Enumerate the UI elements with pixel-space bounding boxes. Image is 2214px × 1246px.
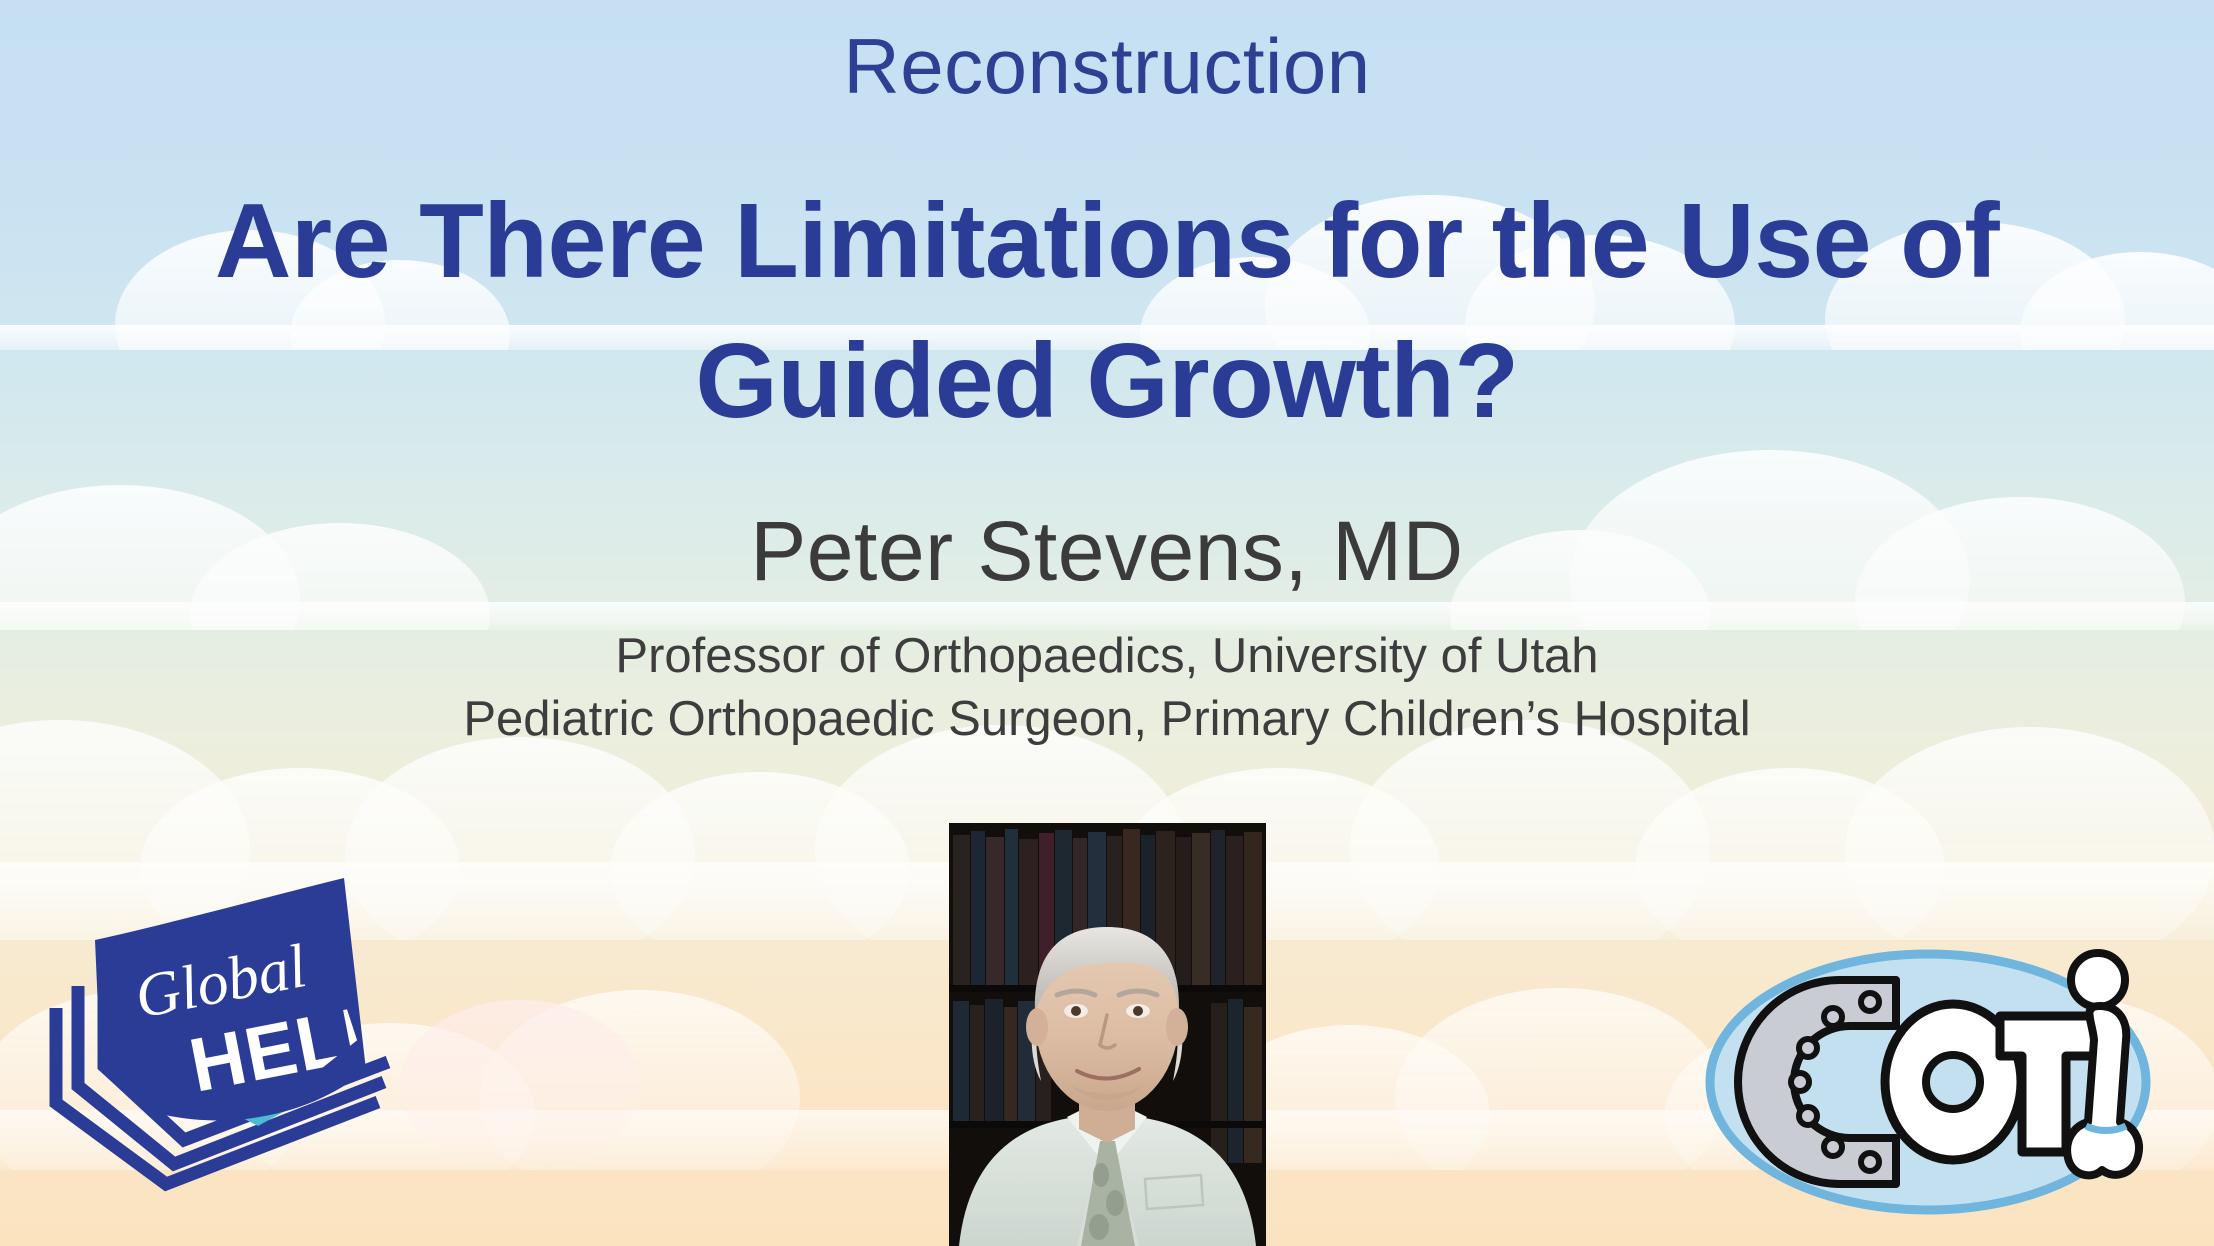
speaker-name: Peter Stevens, MD xyxy=(0,505,2214,597)
coti-logo xyxy=(1700,930,2170,1230)
slide-title-line-1: Are There Limitations for the Use of xyxy=(60,172,2154,312)
affiliation-line-2: Pediatric Orthopaedic Surgeon, Primary C… xyxy=(0,688,2214,751)
affiliation-line-1: Professor of Orthopaedics, University of… xyxy=(0,625,2214,688)
speaker-affiliation: Professor of Orthopaedics, University of… xyxy=(0,625,2214,750)
slide-title: Are There Limitations for the Use of Gui… xyxy=(60,172,2154,452)
presentation-slide: Reconstruction Are There Limitations for… xyxy=(0,0,2214,1246)
slide-title-line-2: Guided Growth? xyxy=(60,312,2154,452)
speaker-portrait xyxy=(949,823,1266,1246)
global-help-logo: Global HELP xyxy=(48,858,388,1198)
slide-kicker: Reconstruction xyxy=(0,24,2214,110)
